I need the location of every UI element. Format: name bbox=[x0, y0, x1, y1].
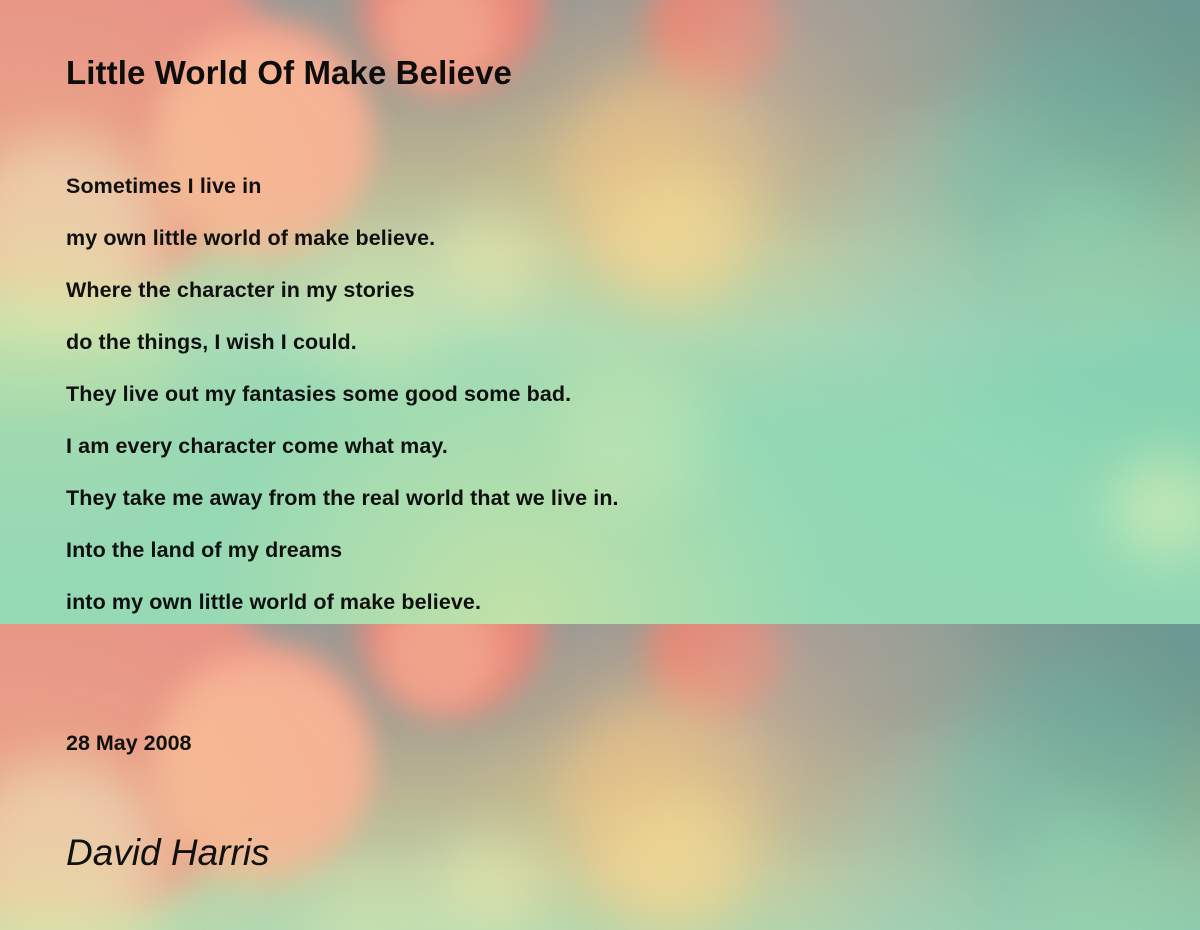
poem-content: Little World Of Make Believe Sometimes I… bbox=[0, 0, 1200, 930]
poem-line: Into the land of my dreams bbox=[66, 524, 1146, 576]
poem-card-page: Little World Of Make Believe Sometimes I… bbox=[0, 0, 1200, 930]
poem-line: I am every character come what may. bbox=[66, 420, 1146, 472]
poem-author: David Harris bbox=[66, 832, 270, 874]
poem-line: They live out my fantasies some good som… bbox=[66, 368, 1146, 420]
poem-line: my own little world of make believe. bbox=[66, 212, 1146, 264]
poem-line: They take me away from the real world th… bbox=[66, 472, 1146, 524]
poem-line: Where the character in my stories bbox=[66, 264, 1146, 316]
page-title: Little World Of Make Believe bbox=[66, 54, 512, 92]
poem-date: 28 May 2008 bbox=[66, 731, 192, 756]
poem-line: into my own little world of make believe… bbox=[66, 576, 1146, 628]
poem-body: Sometimes I live in my own little world … bbox=[66, 160, 1146, 628]
poem-line: Sometimes I live in bbox=[66, 160, 1146, 212]
poem-line: do the things, I wish I could. bbox=[66, 316, 1146, 368]
